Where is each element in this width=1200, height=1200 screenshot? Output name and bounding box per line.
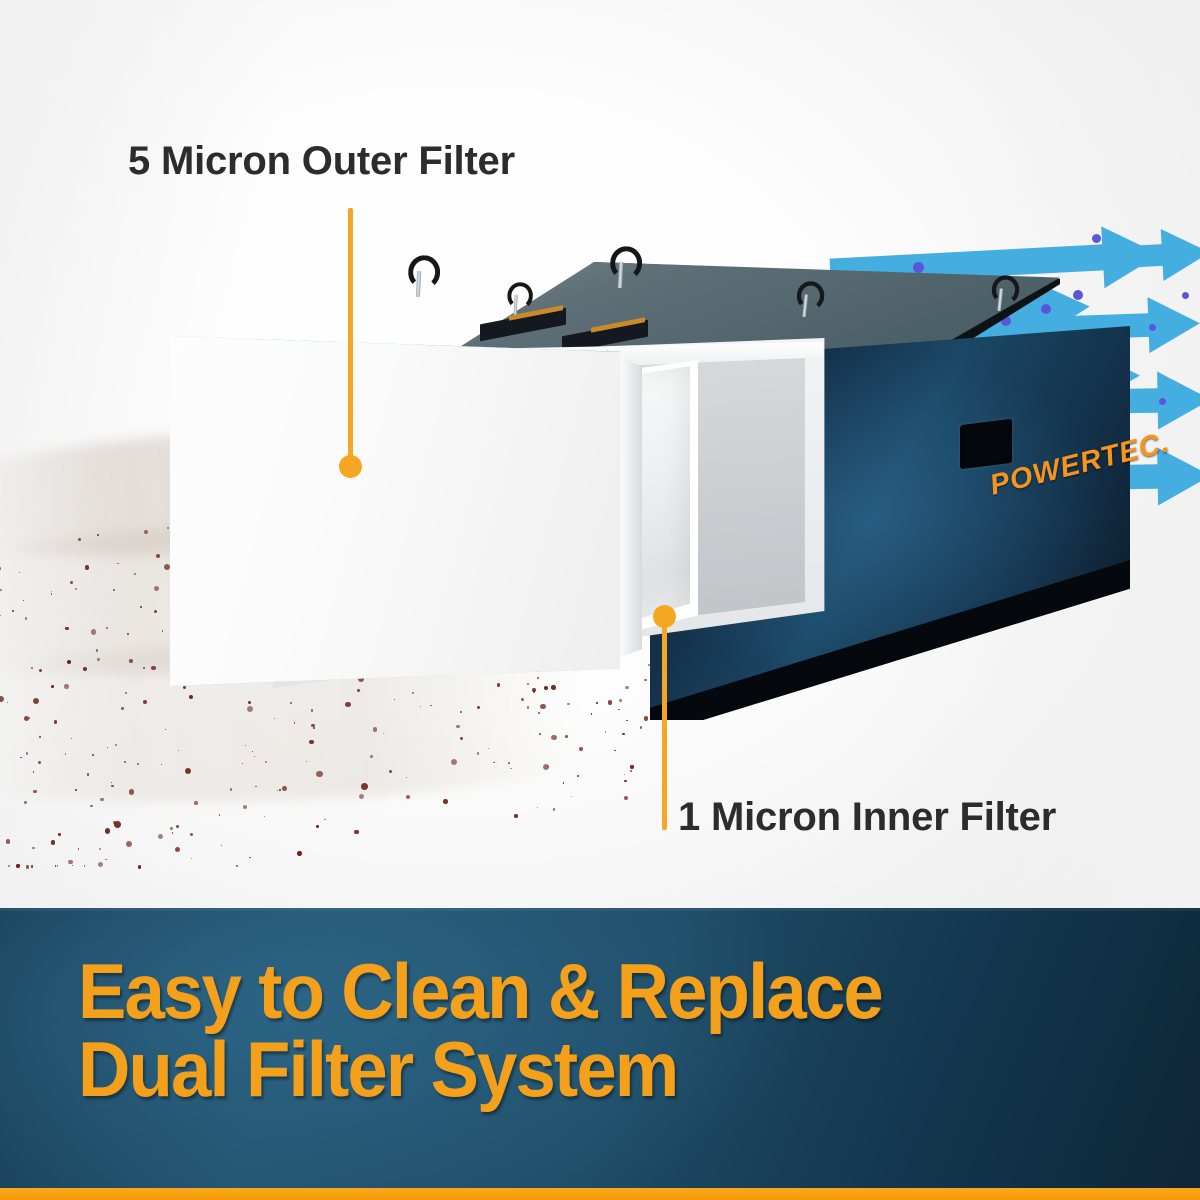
dust-particle bbox=[236, 865, 238, 867]
dust-particle bbox=[577, 775, 579, 777]
dust-particle bbox=[626, 720, 628, 722]
dust-particle bbox=[361, 783, 368, 790]
dust-particle bbox=[510, 768, 511, 769]
dust-particle bbox=[158, 834, 164, 840]
filter-frame-grid bbox=[170, 336, 620, 686]
dust-particle bbox=[134, 573, 136, 575]
dust-particle bbox=[294, 722, 296, 724]
dust-particle bbox=[114, 821, 121, 828]
dust-particle bbox=[563, 782, 565, 784]
dust-particle bbox=[243, 805, 247, 809]
dust-particle bbox=[58, 833, 61, 836]
dust-particle bbox=[249, 857, 250, 858]
dust-particle bbox=[6, 839, 10, 843]
dust-particle bbox=[451, 759, 457, 765]
dust-particle bbox=[25, 617, 28, 620]
dust-particle bbox=[265, 761, 267, 763]
dust-particle bbox=[90, 805, 92, 807]
dust-particle bbox=[630, 770, 631, 771]
dust-particle bbox=[129, 789, 134, 794]
dust-particle bbox=[138, 865, 142, 869]
dust-particle bbox=[571, 796, 573, 798]
outer-filter-callout-label: 5 Micron Outer Filter bbox=[128, 139, 515, 184]
dust-particle bbox=[221, 845, 222, 846]
dust-particle bbox=[0, 589, 2, 591]
dust-particle bbox=[614, 750, 615, 751]
dust-particle bbox=[75, 588, 77, 590]
dust-particle bbox=[537, 807, 538, 808]
dust-particle bbox=[551, 735, 556, 740]
outer-filter-leader-dot bbox=[339, 455, 362, 478]
dust-particle bbox=[65, 627, 68, 630]
dust-particle bbox=[57, 865, 59, 867]
dust-particle bbox=[91, 629, 97, 635]
banner-headline-line2: Dual Filter System bbox=[78, 1030, 1064, 1108]
dust-particle bbox=[406, 795, 410, 799]
dust-particle bbox=[316, 771, 322, 777]
dust-particle bbox=[170, 827, 173, 830]
dust-particle bbox=[630, 765, 633, 768]
air-particle bbox=[1149, 324, 1156, 331]
dust-particle bbox=[31, 667, 33, 669]
dust-particle bbox=[190, 833, 193, 836]
hero-photo-area: POWERTEC. bbox=[0, 0, 1200, 908]
dust-particle bbox=[443, 799, 448, 804]
dust-particle bbox=[64, 684, 69, 689]
inner-filter-leader-dot bbox=[653, 605, 676, 628]
dust-particle bbox=[31, 865, 34, 868]
dust-particle bbox=[194, 801, 198, 805]
dust-particle bbox=[68, 860, 73, 865]
dust-particle bbox=[324, 819, 325, 820]
dust-particle bbox=[143, 700, 147, 704]
dust-particle bbox=[175, 847, 180, 852]
dust-particle bbox=[111, 785, 113, 787]
dust-particle bbox=[359, 794, 364, 799]
dust-particle bbox=[191, 858, 192, 859]
hanging-hook-icon bbox=[506, 282, 525, 315]
dust-particle bbox=[313, 727, 315, 729]
dust-particle bbox=[26, 865, 30, 869]
dust-particle bbox=[51, 840, 56, 845]
dust-particle bbox=[33, 790, 36, 793]
dust-particle bbox=[16, 864, 19, 867]
dust-particle bbox=[311, 724, 315, 728]
banner-top-divider bbox=[0, 908, 1200, 911]
hanging-hook-icon bbox=[795, 280, 817, 316]
outer-filter-leader-line bbox=[348, 208, 353, 470]
dust-particle bbox=[264, 816, 265, 817]
dust-particle bbox=[51, 593, 53, 595]
dust-particle bbox=[98, 862, 103, 867]
dust-particle bbox=[107, 747, 108, 748]
hanging-hook-icon bbox=[609, 245, 633, 286]
dust-particle bbox=[84, 865, 86, 867]
inner-filter-callout-label: 1 Micron Inner Filter bbox=[678, 795, 1056, 840]
dust-particle bbox=[172, 832, 174, 834]
dust-particle bbox=[230, 788, 233, 791]
air-filtration-unit: POWERTEC. bbox=[150, 250, 1110, 720]
banner-headline: Easy to Clean & Replace Dual Filter Syst… bbox=[78, 952, 1064, 1108]
dust-particle bbox=[624, 774, 625, 775]
dust-particle bbox=[126, 841, 132, 847]
hanging-hook-icon bbox=[407, 254, 431, 295]
dust-particle bbox=[121, 707, 124, 710]
dust-particle bbox=[32, 847, 35, 850]
dust-particle bbox=[85, 565, 90, 570]
inner-filter-leader-line bbox=[662, 618, 667, 830]
dust-particle bbox=[624, 780, 626, 782]
dust-particle bbox=[100, 798, 104, 802]
air-particle bbox=[1159, 398, 1166, 405]
dust-particle bbox=[389, 770, 392, 773]
dust-particle bbox=[24, 801, 26, 803]
dust-particle bbox=[105, 828, 111, 834]
dust-particle bbox=[493, 762, 495, 764]
dust-particle bbox=[354, 830, 359, 835]
dust-particle bbox=[38, 761, 41, 764]
dust-particle bbox=[70, 581, 73, 584]
dust-particle bbox=[316, 825, 319, 828]
product-feature-image: POWERTEC. bbox=[0, 0, 1200, 1200]
dust-particle bbox=[565, 735, 568, 738]
dust-particle bbox=[622, 733, 625, 736]
dust-particle bbox=[219, 814, 221, 816]
dust-particle bbox=[373, 727, 378, 732]
dust-particle bbox=[144, 530, 148, 534]
dust-particle bbox=[252, 751, 253, 752]
air-particle bbox=[1182, 292, 1189, 299]
banner-accent-bar bbox=[0, 1188, 1200, 1200]
dust-particle bbox=[605, 731, 606, 732]
hanging-hook-icon bbox=[990, 274, 1012, 310]
handle-slot-icon bbox=[960, 419, 1012, 469]
dust-particle bbox=[75, 789, 77, 791]
dust-particle bbox=[97, 534, 99, 536]
dust-particle bbox=[99, 848, 101, 850]
outer-filter-cartridge bbox=[170, 336, 640, 686]
dust-particle bbox=[8, 865, 10, 867]
banner-headline-line1: Easy to Clean & Replace bbox=[78, 952, 1064, 1030]
dust-particle bbox=[72, 865, 73, 866]
dust-particle bbox=[39, 736, 41, 738]
dust-particle bbox=[12, 610, 14, 612]
dust-particle bbox=[33, 698, 39, 704]
dust-particle bbox=[297, 851, 302, 856]
dust-particle bbox=[579, 747, 583, 751]
dust-particle bbox=[140, 606, 142, 608]
dust-particle bbox=[39, 669, 42, 672]
dust-particle bbox=[553, 808, 556, 811]
dust-particle bbox=[514, 814, 518, 818]
dust-particle bbox=[161, 764, 162, 765]
dust-particle bbox=[640, 726, 643, 729]
dust-particle bbox=[105, 859, 107, 861]
dust-particle bbox=[26, 752, 28, 754]
air-particle bbox=[1092, 234, 1101, 243]
dust-particle bbox=[176, 825, 179, 828]
dust-particle bbox=[624, 796, 628, 800]
dust-particle bbox=[78, 848, 79, 849]
dust-particle bbox=[106, 627, 108, 629]
outer-filter-face bbox=[170, 336, 620, 686]
